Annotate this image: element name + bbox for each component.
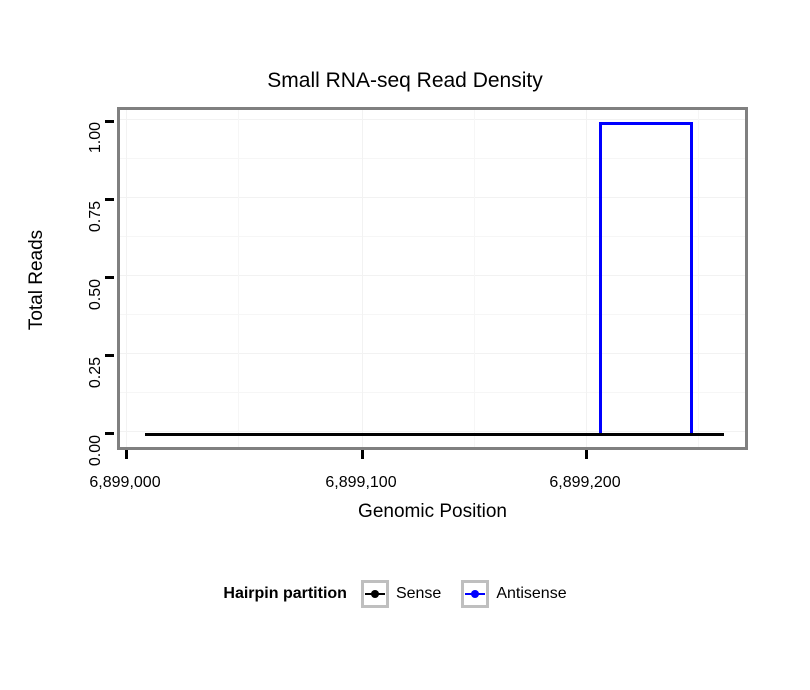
x-tick-label-6899200: 6,899,200: [515, 474, 655, 492]
x-axis-title: Genomic Position: [117, 500, 748, 524]
line-dot-key-icon-antisense: [461, 580, 489, 608]
line-dot-key-icon-sense: [361, 580, 389, 608]
series-antisense-plateau: [599, 122, 693, 125]
legend: Hairpin partition Sense Antisense: [0, 580, 810, 608]
x-tick-label-6899000: 6,899,000: [55, 474, 195, 492]
y-axis-title: Total Reads: [24, 190, 50, 370]
legend-entry-antisense[interactable]: Antisense: [461, 580, 578, 608]
y-tick-label-0.25: 0.25: [88, 357, 104, 417]
key-point-dot: [371, 590, 379, 598]
data-series-layer: [120, 110, 745, 447]
key-point-dot: [471, 590, 479, 598]
x-tick-mark-6899100: [361, 450, 364, 459]
y-tick-mark-0.25: [105, 354, 114, 357]
plot-panel: [117, 107, 748, 450]
x-tick-mark-6899200: [585, 450, 588, 459]
y-tick-mark-0.50: [105, 276, 114, 279]
plot-inner-area: [120, 110, 745, 447]
legend-label-sense: Sense: [396, 586, 441, 602]
x-tick-mark-6899000: [125, 450, 128, 459]
y-tick-label-0.50: 0.50: [88, 279, 104, 339]
legend-label-antisense: Antisense: [496, 586, 566, 602]
series-antisense-right-riser: [690, 122, 693, 436]
chart-figure: Small RNA-seq Read Density 1.00 0.75 0.5…: [0, 0, 810, 690]
series-antisense-left-riser: [599, 122, 602, 436]
chart-title: Small RNA-seq Read Density: [0, 68, 810, 94]
y-tick-label-0.75: 0.75: [88, 201, 104, 261]
series-sense-baseline: [145, 433, 724, 436]
legend-title: Hairpin partition: [223, 585, 347, 603]
y-axis-title-text: Total Reads: [24, 205, 50, 355]
y-tick-label-1.00: 1.00: [88, 122, 104, 182]
y-tick-mark-0.00: [105, 432, 114, 435]
y-tick-mark-1.00: [105, 120, 114, 123]
y-tick-mark-0.75: [105, 198, 114, 201]
legend-entry-sense[interactable]: Sense: [361, 580, 453, 608]
x-tick-label-6899100: 6,899,100: [291, 474, 431, 492]
